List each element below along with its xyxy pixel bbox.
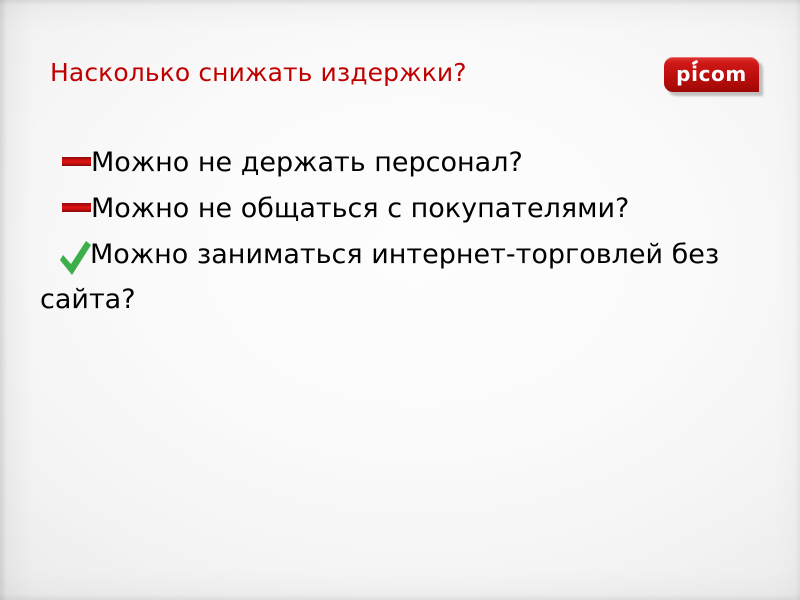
- list-item: Можно заниматься интернет-торговлей без …: [40, 232, 770, 322]
- logo-text-p: p: [676, 62, 691, 86]
- page-title: Насколько снижать издержки?: [50, 57, 650, 89]
- logo-text: picom: [664, 57, 759, 92]
- green-check-icon: [58, 239, 92, 279]
- list-item-label: Можно заниматься интернет-торговлей без …: [40, 239, 719, 315]
- red-dash-icon: [62, 157, 91, 166]
- bullet-list: Можно не держать персонал? Можно не обща…: [40, 140, 770, 322]
- list-item: Можно не общаться с покупателями?: [40, 186, 770, 232]
- red-dash-icon: [62, 203, 91, 212]
- logo-text-com: com: [699, 62, 747, 86]
- list-item-label: Можно не общаться с покупателями?: [91, 193, 629, 224]
- list-item: Можно не держать персонал?: [40, 140, 770, 186]
- logo-letter-i: i: [691, 62, 698, 86]
- list-item-label: Можно не держать персонал?: [91, 147, 523, 178]
- picom-logo[interactable]: picom: [664, 57, 763, 96]
- logo-letter-i-glyph: i: [691, 62, 698, 86]
- slide-canvas: Насколько снижать издержки? picom Можно …: [0, 0, 800, 600]
